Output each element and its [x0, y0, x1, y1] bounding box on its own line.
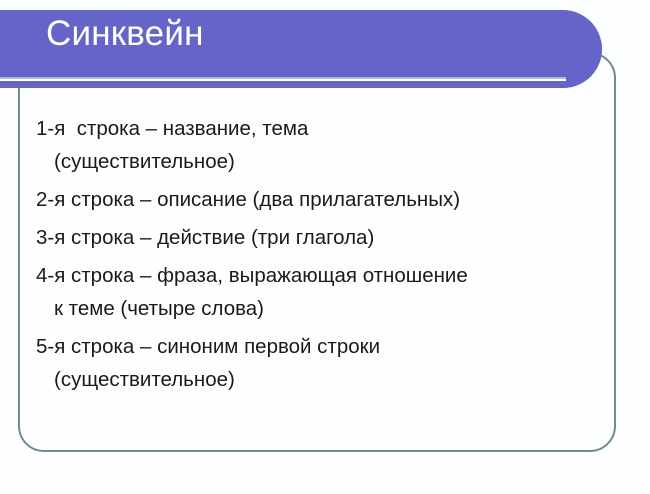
slide-canvas: Синквейн Синквейн 1-я строка – название,… [0, 0, 650, 494]
page-title-front: Синквейн [46, 13, 204, 55]
list-item: 2-я строка – описание (два прилагательны… [36, 183, 596, 216]
list-item: 3-я строка – действие (три глагола) [36, 221, 596, 254]
list-item: 1-я строка – название, тема (существител… [36, 112, 596, 178]
list-item: 4-я строка – фраза, выражающая отношение… [36, 259, 596, 325]
banner-divider-rule-front [0, 77, 566, 81]
list-item: 5-я строка – синоним первой строки (суще… [36, 330, 596, 396]
sinkvein-rules-list: 1-я строка – название, тема (существител… [36, 112, 596, 396]
